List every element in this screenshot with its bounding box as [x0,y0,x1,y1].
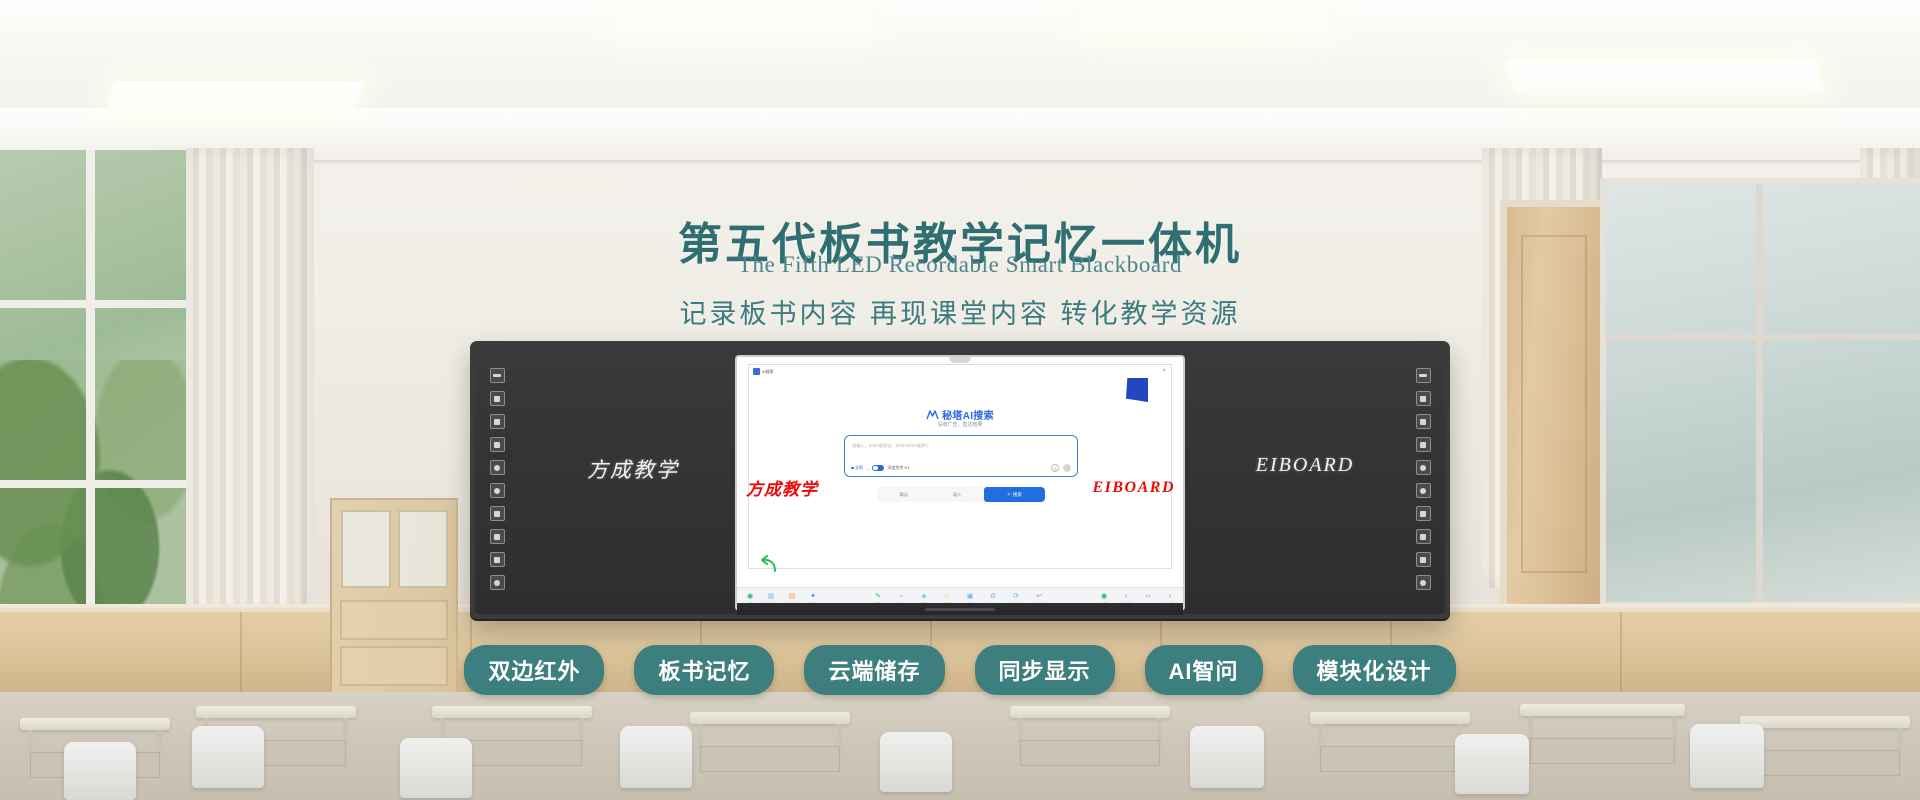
pen-alt-icon[interactable] [490,414,505,429]
ceiling-lamp-icon [1079,18,1331,33]
pen-icon[interactable] [490,391,505,406]
student-desk [1740,716,1910,776]
page-icon[interactable] [1416,437,1431,452]
app-brand: 秘塔AI搜索 [749,407,1171,422]
ai-search-app-window[interactable]: AI搜索 × 秘塔AI搜索 没有广告，直达结果 请输入，Enter键发送，Shi… [748,364,1172,569]
undo-icon: ↩ [1034,591,1044,601]
power-icon[interactable] [1416,575,1431,590]
screen-notch [949,357,971,363]
list-icon: ▤ [787,591,797,601]
grid-icon[interactable] [1416,552,1431,567]
prev-icon: ‹ [1121,591,1131,601]
display-icon[interactable] [1416,368,1431,383]
eraser-icon: ◇ [942,591,952,601]
search-placeholder: 请输入，Enter键发送，Shift+Enter键换行 [852,443,929,449]
record-icon: ⊙ [988,591,998,601]
cabinet-glass-door [341,510,391,588]
student-chair [64,742,136,800]
record-alt-icon[interactable] [490,483,505,498]
undo-arrow-icon[interactable] [757,555,779,575]
student-chair [400,738,472,798]
send-icon[interactable]: ↑ [1063,464,1071,472]
feature-pill-dual-infrared[interactable]: 双边红外 [464,645,604,695]
cabinet-glass-door [398,510,448,588]
search-button-label: 搜索 [1013,492,1022,498]
chevron-down-icon[interactable]: ⌄ [866,466,869,471]
search-scope-selector[interactable]: 全网 [851,465,863,471]
app-logo-icon [753,368,760,375]
pen-icon: ✎ [873,591,883,601]
tab-concise[interactable]: 简洁 [877,487,930,502]
embedded-display-screen[interactable]: AI搜索 × 秘塔AI搜索 没有广告，直达结果 请输入，Enter键发送，Shi… [737,357,1183,609]
deep-think-toggle[interactable] [872,465,884,472]
tab-indepth[interactable]: 深入 [930,487,983,502]
feature-pill-ai-ask[interactable]: AI智问 [1145,645,1263,695]
student-chair [880,732,952,792]
ceiling-lamp-icon [1505,60,1825,94]
close-icon[interactable]: × [1162,368,1166,374]
home-icon: ◉ [1099,591,1109,601]
record-alt-icon[interactable] [1416,483,1431,498]
student-chair [1690,724,1764,788]
app-brand-tagline: 没有广告，直达结果 [749,421,1171,428]
feature-pill-sync-display[interactable]: 同步显示 [975,645,1115,695]
apps-icon: ▦ [766,591,776,601]
feature-pill-board-memory[interactable]: 板书记忆 [634,645,774,695]
capture-icon: ▣ [965,591,975,601]
hdmi-icon[interactable] [1416,529,1431,544]
select-icon: ⌁ [896,591,906,601]
page-tagline: 记录板书内容 再现课堂内容 转化教学资源 [0,292,1920,331]
record-icon[interactable] [1416,460,1431,475]
app-window-titlebar: AI搜索 [753,368,774,375]
classroom-hero-banner: 第五代板书教学记忆一体机 The Fifth LED Recordable Sm… [0,0,1920,800]
home-icon: ◉ [745,591,755,601]
search-mode-tabs[interactable]: 简洁 深入 ✧ 搜索 [877,487,1045,502]
page-icon[interactable] [490,437,505,452]
ceiling-lamp-icon [619,20,871,35]
camera-icon[interactable]: ◎ [1051,464,1059,472]
power-icon[interactable] [490,575,505,590]
page-icon: 1/1 [1143,591,1153,601]
search-controls: 全网 ⌄ 深度思考 R1 ◎ ↑ [851,464,1071,472]
student-desk [1520,704,1685,764]
handwriting-red-left: 方成教学 [746,475,818,500]
deep-think-label: 深度思考 R1 [887,465,909,471]
blue-flag-decoration [1126,378,1148,402]
scope-dot-icon [851,467,854,470]
shape-icon: ◈ [919,591,929,601]
feature-pill-modular-design[interactable]: 模块化设计 [1293,645,1456,695]
sparkle-icon: ✧ [1007,492,1011,498]
refresh-icon: ⟳ [1011,591,1021,601]
hdmi-icon[interactable] [490,529,505,544]
left-control-strip[interactable] [487,368,507,598]
bezel-grille [925,608,995,611]
student-chair [1190,726,1264,788]
grid-icon[interactable] [490,552,505,567]
student-chair [620,726,692,788]
pen-icon[interactable] [1416,391,1431,406]
mita-logo-icon [926,410,939,420]
next-icon: › [1165,591,1175,601]
blackboard-right-chalk-text: EIBOARD [1205,454,1405,477]
blackboard-left-chalk-text: 方成教学 [533,454,733,484]
record-icon[interactable] [490,460,505,475]
stop-icon[interactable] [1416,506,1431,521]
student-chair [192,726,264,788]
student-desk [1010,706,1170,766]
app-brand-name: 秘塔AI搜索 [942,407,994,422]
settings-icon: ✦ [808,591,818,601]
app-window-title: AI搜索 [762,369,774,375]
search-input[interactable]: 请输入，Enter键发送，Shift+Enter键换行 全网 ⌄ 深度思考 R1… [844,435,1078,477]
feature-pill-row: 双边红外 板书记忆 云端储存 同步显示 AI智问 模块化设计 [0,645,1920,695]
search-scope-label: 全网 [855,465,863,471]
search-button[interactable]: ✧ 搜索 [984,487,1045,502]
feature-pill-cloud-storage[interactable]: 云端储存 [804,645,944,695]
right-control-strip[interactable] [1413,368,1433,598]
ceiling-lamp-icon [105,82,364,110]
screen-bezel-chin [737,603,1183,615]
display-icon[interactable] [490,368,505,383]
student-desk [690,712,850,772]
student-chair [1455,734,1529,794]
handwriting-red-right: EIBOARD [1092,479,1175,497]
stop-icon[interactable] [490,506,505,521]
page-subtitle-en: The Fifth LED Recordable Smart Blackboar… [0,252,1920,278]
pen-alt-icon[interactable] [1416,414,1431,429]
student-desk [1310,712,1470,772]
